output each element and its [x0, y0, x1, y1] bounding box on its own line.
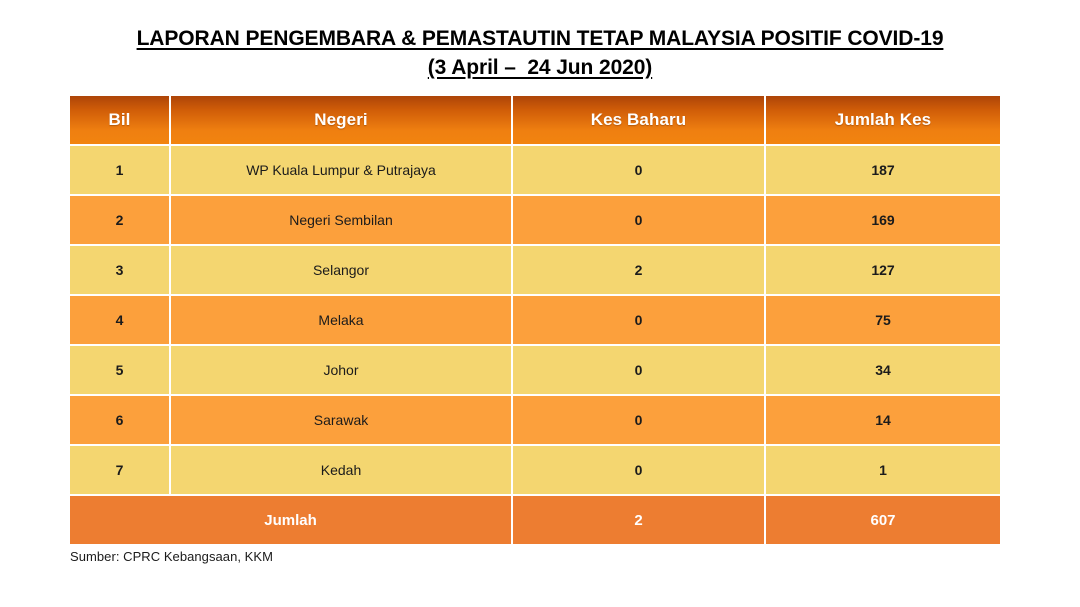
- cell-jumlah-kes: 34: [765, 345, 1000, 395]
- cell-kes-baharu: 0: [512, 395, 765, 445]
- table-total-row: Jumlah 2 607: [70, 495, 1000, 544]
- covid-report-table: Bil Negeri Kes Baharu Jumlah Kes 1 WP Ku…: [70, 96, 1000, 544]
- cell-negeri: WP Kuala Lumpur & Putrajaya: [170, 145, 512, 195]
- table-row: 6 Sarawak 0 14: [70, 395, 1000, 445]
- table-header-row: Bil Negeri Kes Baharu Jumlah Kes: [70, 96, 1000, 145]
- cell-jumlah-kes: 127: [765, 245, 1000, 295]
- cell-bil: 5: [70, 345, 170, 395]
- title-line-1: LAPORAN PENGEMBARA & PEMASTAUTIN TETAP M…: [0, 24, 1080, 53]
- cell-kes-baharu: 0: [512, 345, 765, 395]
- cell-kes-baharu: 0: [512, 445, 765, 495]
- column-header-kes-baharu: Kes Baharu: [512, 96, 765, 145]
- column-header-bil: Bil: [70, 96, 170, 145]
- total-label: Jumlah: [70, 495, 512, 544]
- column-header-jumlah-kes: Jumlah Kes: [765, 96, 1000, 145]
- cell-bil: 1: [70, 145, 170, 195]
- table-row: 1 WP Kuala Lumpur & Putrajaya 0 187: [70, 145, 1000, 195]
- cell-jumlah-kes: 169: [765, 195, 1000, 245]
- cell-jumlah-kes: 1: [765, 445, 1000, 495]
- total-jumlah-kes: 607: [765, 495, 1000, 544]
- cell-kes-baharu: 0: [512, 195, 765, 245]
- cell-kes-baharu: 0: [512, 145, 765, 195]
- title-line-2: (3 April – 24 Jun 2020): [0, 53, 1080, 82]
- cell-kes-baharu: 2: [512, 245, 765, 295]
- cell-kes-baharu: 0: [512, 295, 765, 345]
- cell-negeri: Negeri Sembilan: [170, 195, 512, 245]
- cell-negeri: Johor: [170, 345, 512, 395]
- report-table-container: Bil Negeri Kes Baharu Jumlah Kes 1 WP Ku…: [70, 96, 1000, 544]
- cell-bil: 6: [70, 395, 170, 445]
- cell-bil: 2: [70, 195, 170, 245]
- cell-negeri: Sarawak: [170, 395, 512, 445]
- cell-bil: 4: [70, 295, 170, 345]
- cell-negeri: Kedah: [170, 445, 512, 495]
- total-kes-baharu: 2: [512, 495, 765, 544]
- table-row: 2 Negeri Sembilan 0 169: [70, 195, 1000, 245]
- cell-bil: 7: [70, 445, 170, 495]
- source-note: Sumber: CPRC Kebangsaan, KKM: [70, 549, 273, 564]
- cell-bil: 3: [70, 245, 170, 295]
- cell-negeri: Melaka: [170, 295, 512, 345]
- cell-jumlah-kes: 75: [765, 295, 1000, 345]
- table-row: 4 Melaka 0 75: [70, 295, 1000, 345]
- column-header-negeri: Negeri: [170, 96, 512, 145]
- page-title: LAPORAN PENGEMBARA & PEMASTAUTIN TETAP M…: [0, 0, 1080, 82]
- table-row: 3 Selangor 2 127: [70, 245, 1000, 295]
- cell-jumlah-kes: 187: [765, 145, 1000, 195]
- table-row: 7 Kedah 0 1: [70, 445, 1000, 495]
- cell-jumlah-kes: 14: [765, 395, 1000, 445]
- table-row: 5 Johor 0 34: [70, 345, 1000, 395]
- cell-negeri: Selangor: [170, 245, 512, 295]
